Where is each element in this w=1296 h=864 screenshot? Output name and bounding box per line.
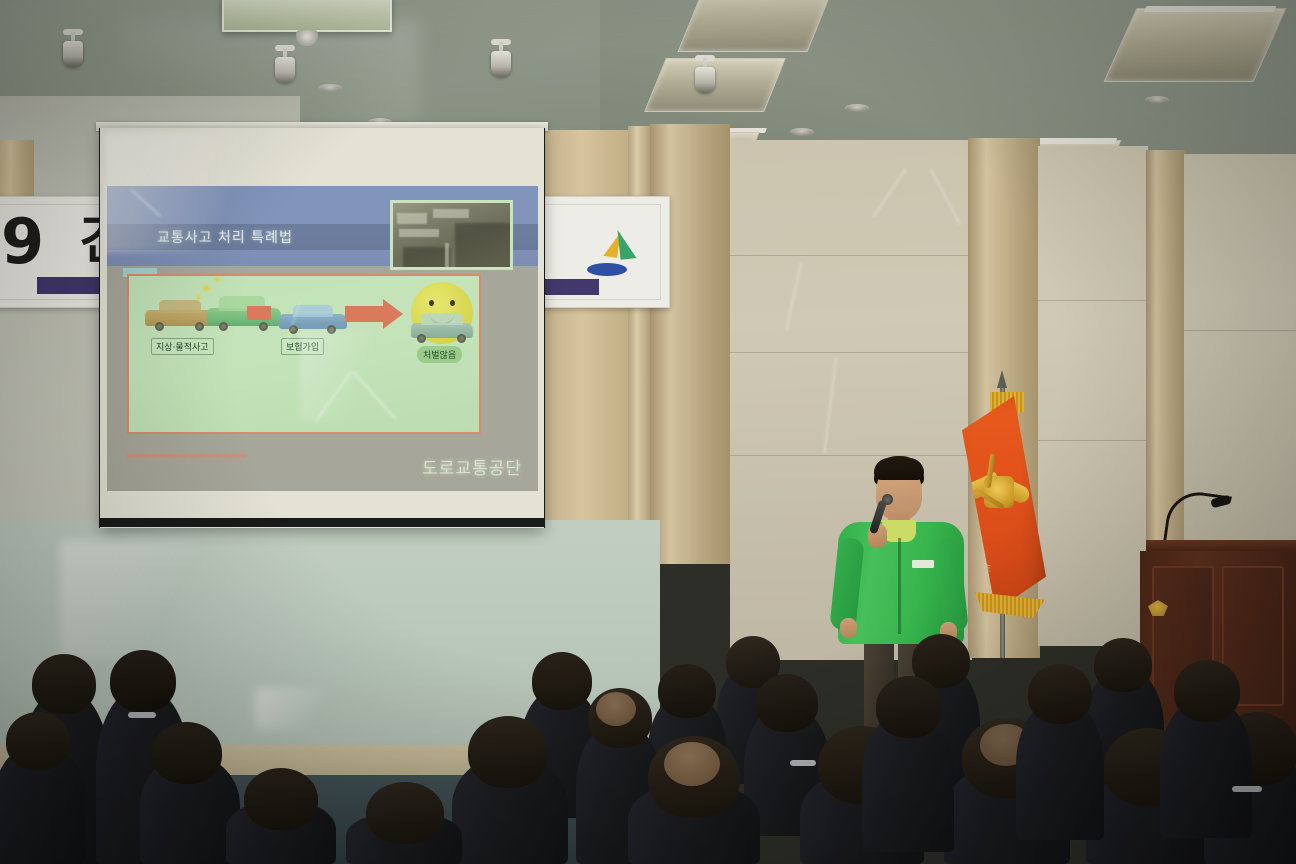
ceiling-spotlight	[692, 58, 718, 98]
audience-head	[1094, 638, 1152, 692]
car-wheel	[155, 322, 164, 331]
collision-spark: ✦	[195, 294, 203, 303]
car-wheel	[417, 334, 426, 343]
car-wheel	[195, 322, 204, 331]
audience-head	[152, 722, 222, 784]
marble-seam	[1038, 440, 1148, 441]
speaker-name-badge	[912, 560, 934, 568]
photo-detail	[445, 243, 449, 270]
slide-title: 교통사고 처리 특례법	[157, 227, 293, 247]
marble-seam	[1184, 330, 1296, 331]
collision-spark: ✦	[213, 276, 221, 286]
speaker-zipper	[898, 538, 901, 634]
photograph-scene: 9 건 교통사고 처리 특례법	[0, 0, 1296, 864]
marble-seam	[730, 352, 972, 353]
photo-detail	[399, 229, 439, 237]
car-cabin	[293, 305, 333, 317]
ceiling-troffer	[677, 0, 832, 52]
marble-seam	[1038, 300, 1148, 301]
audience-head	[1174, 660, 1240, 722]
audience-head	[468, 716, 548, 788]
spotlight-head	[275, 57, 295, 83]
audience-shirt-collar	[1232, 786, 1262, 792]
recessed-downlight	[790, 128, 814, 136]
slide-footer-accent	[127, 454, 247, 458]
diagram-label-accident: 지상·물적사고	[151, 338, 214, 355]
podium-top-rail	[1146, 540, 1296, 551]
audience-head	[32, 654, 96, 714]
wall-marble-panel	[1038, 146, 1148, 646]
diagram-car-insured	[279, 304, 349, 334]
audience-head	[244, 768, 318, 830]
marble-seam	[730, 255, 972, 256]
audience-head	[1028, 664, 1092, 724]
smiley-eye	[429, 300, 434, 306]
diagram-car-result	[411, 312, 473, 342]
audience-head	[876, 676, 942, 738]
recessed-downlight	[1145, 96, 1169, 104]
microphone-head	[882, 494, 893, 505]
ceiling-spotlight	[60, 32, 86, 72]
car-wheel	[457, 334, 466, 343]
slide-content-area: ✦ ✦ ✦ 지상·물적사고 보험가입	[127, 274, 481, 434]
ceiling-spotlight	[488, 42, 514, 82]
spotlight-head	[695, 67, 715, 93]
photo-detail	[403, 247, 451, 269]
photo-detail	[455, 223, 513, 269]
projector-housing	[222, 0, 392, 32]
recessed-downlight	[845, 104, 869, 112]
recessed-downlight	[318, 84, 342, 92]
banner-logo-sail-green	[617, 228, 636, 260]
smiley-eye	[450, 300, 455, 306]
photo-detail	[433, 209, 469, 218]
audience-head	[532, 652, 592, 710]
photo-detail	[397, 213, 427, 224]
banner-logo-ellipse	[587, 263, 627, 276]
spotlight-head	[63, 41, 83, 67]
flag-finial	[997, 370, 1007, 388]
wall-column	[628, 126, 650, 556]
marble-seam	[730, 455, 972, 456]
wall-column	[1146, 150, 1186, 550]
diagram-car-colliding	[207, 292, 283, 334]
diagram-result-badge: 처벌않음	[417, 346, 462, 363]
car-wheel	[219, 322, 228, 331]
slide-accident-photo	[390, 200, 513, 270]
car-cabin	[421, 313, 463, 325]
audience-head	[6, 712, 70, 770]
audience-head	[756, 674, 818, 732]
audience-head	[366, 782, 444, 844]
slide-organization-logo: 도로교통공단	[422, 454, 522, 479]
car-wheel	[327, 325, 336, 334]
wall-light-reflection	[60, 540, 240, 660]
audience-shirt-collar	[790, 760, 816, 766]
projected-slide: 교통사고 처리 특례법 ✦ ✦ ✦ 지상·물적사고	[107, 186, 538, 491]
diagram-arrow-head	[383, 299, 403, 329]
wall-column	[650, 124, 730, 564]
audience-head	[110, 650, 176, 712]
wall-light-reflection	[255, 688, 365, 730]
screen-bottom-bar	[99, 518, 545, 527]
audience-head-bald	[596, 692, 636, 726]
audience-shirt-collar	[128, 712, 156, 718]
ceiling-spotlight	[272, 48, 298, 88]
speaker-hair	[874, 458, 924, 480]
diagram-connector-block	[247, 306, 271, 320]
ceiling-troffer-lip	[1144, 6, 1277, 12]
car-wheel	[289, 325, 298, 334]
diagram-arrow-shaft	[345, 306, 385, 322]
car-wheel	[259, 322, 268, 331]
audience-head	[658, 664, 716, 718]
spotlight-head	[491, 51, 511, 77]
speaker-hand-left	[840, 618, 857, 638]
diagram-label-insurance: 보험가입	[281, 338, 324, 355]
audience-head-bald	[664, 742, 720, 786]
banner-character-left: 9	[1, 211, 44, 273]
